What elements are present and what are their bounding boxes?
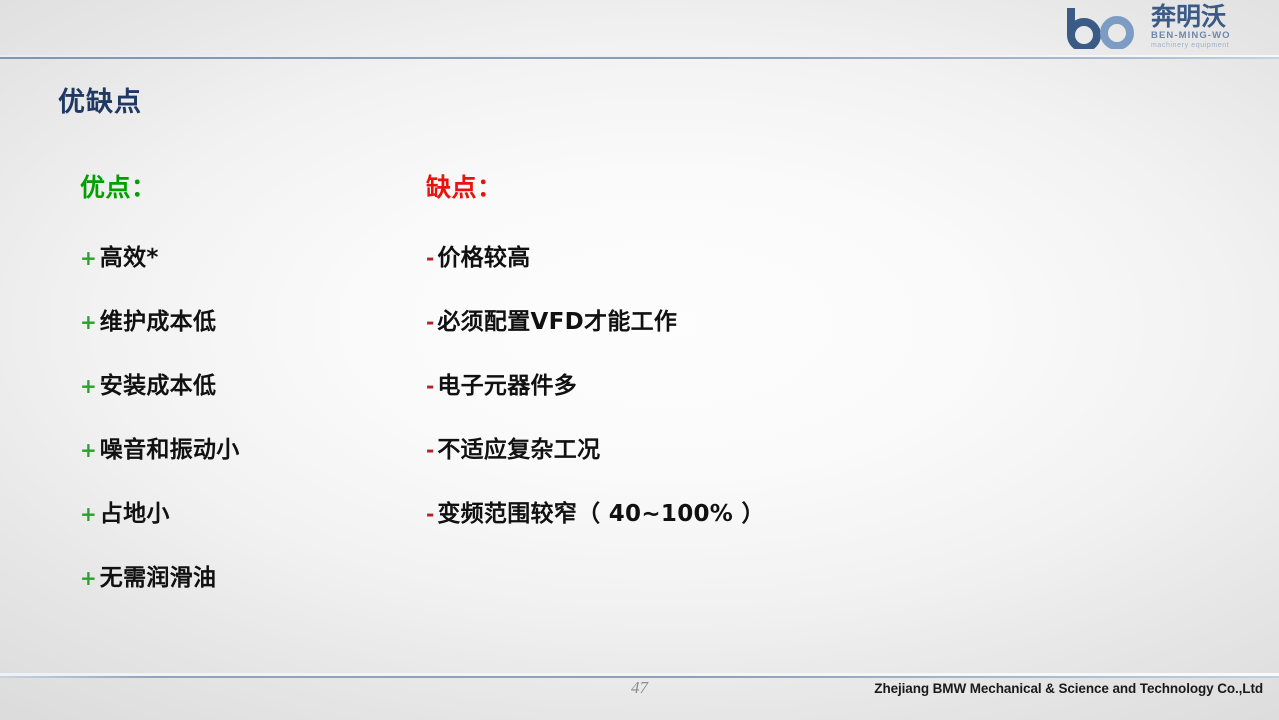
list-item: + 噪音和振动小 [80, 430, 410, 494]
list-item: - 变频范围较窄（ 40~100% ） [426, 494, 1046, 558]
list-item: + 占地小 [80, 494, 410, 558]
advantages-list: + 高效* + 维护成本低 + 安装成本低 + 噪音和振动小 + 占地小 + [80, 238, 410, 622]
list-item: + 高效* [80, 238, 410, 302]
logo-wordmark: 奔明沃 BEN-MING-WO machinery equipment [1151, 3, 1271, 53]
logo-english-name: BEN-MING-WO [1151, 30, 1271, 41]
advantages-column: 优点： + 高效* + 维护成本低 + 安装成本低 + 噪音和振动小 + 占地小 [80, 168, 410, 622]
list-item-label: 安装成本低 [100, 366, 217, 400]
list-item-label: 无需润滑油 [100, 558, 217, 592]
list-item-label: 不适应复杂工况 [437, 430, 600, 464]
slide-canvas: 奔明沃 BEN-MING-WO machinery equipment 优缺点 … [0, 0, 1279, 720]
header-divider [0, 57, 1279, 59]
list-item-label: 变频范围较窄（ 40~100% ） [437, 494, 764, 528]
list-item-label: 噪音和振动小 [100, 430, 240, 464]
list-item-label: 维护成本低 [100, 302, 217, 336]
list-item: + 无需润滑油 [80, 558, 410, 622]
disadvantages-heading: 缺点： [426, 168, 1046, 198]
plus-marker-icon: + [80, 502, 97, 526]
minus-marker-icon: - [426, 310, 434, 334]
plus-marker-icon: + [80, 310, 97, 334]
minus-marker-icon: - [426, 502, 434, 526]
bo-monogram-icon [1061, 5, 1147, 49]
advantages-heading: 优点： [80, 168, 410, 198]
disadvantages-list: - 价格较高 - 必须配置VFD才能工作 - 电子元器件多 - 不适应复杂工况 … [426, 238, 1046, 558]
slide-header: 奔明沃 BEN-MING-WO machinery equipment [0, 0, 1279, 59]
logo-chinese-name: 奔明沃 [1151, 3, 1271, 30]
list-item: - 价格较高 [426, 238, 1046, 302]
logo-tagline: machinery equipment [1151, 41, 1271, 50]
list-item: - 必须配置VFD才能工作 [426, 302, 1046, 366]
plus-marker-icon: + [80, 566, 97, 590]
plus-marker-icon: + [80, 374, 97, 398]
minus-marker-icon: - [426, 374, 434, 398]
page-title: 优缺点 [58, 80, 142, 119]
list-item-label: 必须配置VFD才能工作 [437, 302, 677, 336]
list-item-label: 占地小 [100, 494, 170, 528]
minus-marker-icon: - [426, 438, 434, 462]
list-item: - 不适应复杂工况 [426, 430, 1046, 494]
list-item: - 电子元器件多 [426, 366, 1046, 430]
plus-marker-icon: + [80, 246, 97, 270]
minus-marker-icon: - [426, 246, 434, 270]
list-item-label: 电子元器件多 [437, 366, 577, 400]
list-item: + 维护成本低 [80, 302, 410, 366]
disadvantages-column: 缺点： - 价格较高 - 必须配置VFD才能工作 - 电子元器件多 - 不适应复… [426, 168, 1046, 558]
footer-company-name: Zhejiang BMW Mechanical & Science and Te… [874, 681, 1263, 696]
plus-marker-icon: + [80, 438, 97, 462]
company-logo: 奔明沃 BEN-MING-WO machinery equipment [1061, 3, 1271, 53]
list-item-label: 价格较高 [437, 238, 530, 272]
list-item: + 安装成本低 [80, 366, 410, 430]
list-item-label: 高效* [100, 238, 159, 272]
